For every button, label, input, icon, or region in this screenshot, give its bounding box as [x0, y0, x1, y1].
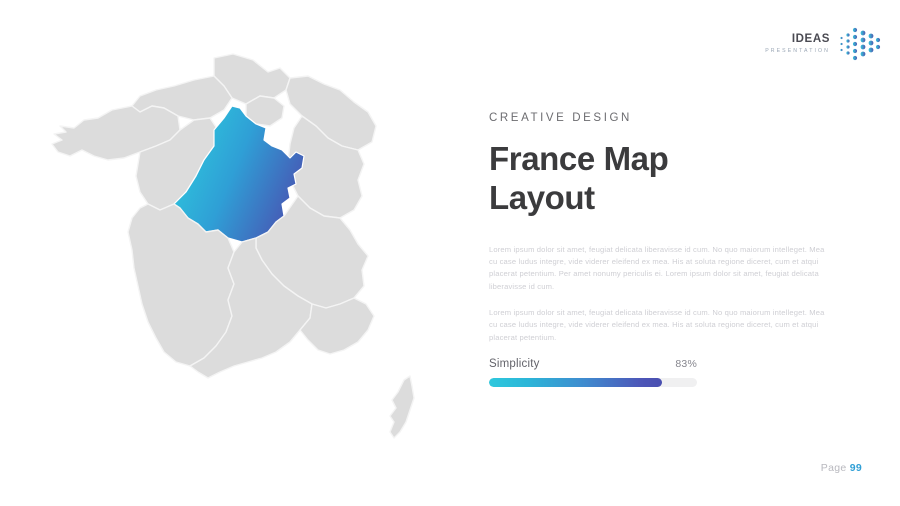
brand-logo: IDEAS PRESENTATION	[765, 22, 882, 66]
progress-track[interactable]	[489, 378, 697, 387]
kicker-label: CREATIVE DESIGN	[489, 112, 829, 124]
progress-value: 83%	[675, 358, 697, 370]
logo-title: IDEAS	[765, 34, 830, 46]
page-title-line-1: France Map	[489, 140, 829, 179]
page-title-line-2: Layout	[489, 179, 829, 218]
body-paragraph-2: Lorem ipsum dolor sit amet, feugiat deli…	[489, 307, 829, 344]
content-block: CREATIVE DESIGN France Map Layout Lorem …	[489, 112, 829, 358]
dot-cluster-logo-icon	[838, 22, 882, 66]
logo-subtitle: PRESENTATION	[765, 49, 830, 54]
page-indicator-number: 99	[850, 462, 862, 474]
progress-label: Simplicity	[489, 358, 540, 370]
region-provence-alpes-cote-dazur[interactable]	[300, 298, 374, 354]
france-map-svg	[28, 46, 468, 456]
slide-canvas: IDEAS PRESENTATION	[0, 0, 900, 506]
page-title: France Map Layout	[489, 140, 829, 218]
progress-block: Simplicity 83%	[489, 358, 697, 387]
region-corse[interactable]	[390, 376, 414, 438]
logo-text-block: IDEAS PRESENTATION	[765, 34, 830, 54]
page-indicator: Page 99	[821, 462, 862, 474]
france-map[interactable]	[28, 46, 468, 456]
body-paragraph-1: Lorem ipsum dolor sit amet, feugiat deli…	[489, 244, 829, 293]
page-indicator-label: Page	[821, 462, 847, 474]
progress-header: Simplicity 83%	[489, 358, 697, 370]
progress-fill	[489, 378, 662, 387]
